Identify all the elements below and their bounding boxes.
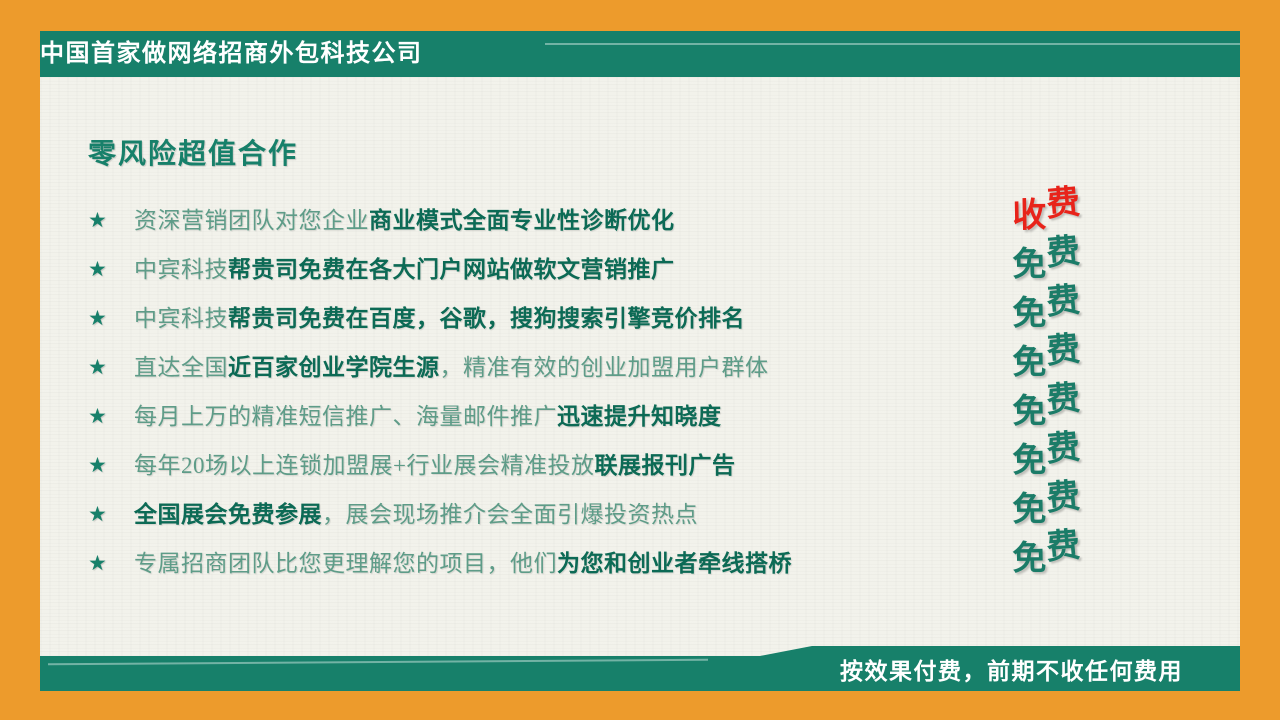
benefit-text-emphasis: 迅速提升知晓度 — [557, 404, 722, 429]
price-badge-char-1: 免 — [1012, 236, 1047, 286]
star-icon: ★ — [88, 504, 134, 525]
price-badge-char-2: 费 — [1044, 174, 1082, 226]
benefit-row: ★资深营销团队对您企业商业模式全面专业性诊断优化收费 — [88, 196, 1088, 245]
price-badge-char-2: 费 — [1044, 419, 1082, 471]
price-badge: 免费 — [985, 523, 1107, 576]
benefit-row: ★中宾科技帮贵司免费在百度，谷歌，搜狗搜索引擎竞价排名免费 — [88, 294, 1088, 343]
benefit-text-emphasis: 全国展会免费参展 — [134, 502, 322, 527]
benefit-text-plain-trailing: ，展会现场推介会全面引爆投资热点 — [322, 502, 698, 527]
benefit-text-emphasis: 帮贵司免费在百度，谷歌，搜狗搜索引擎竞价排名 — [228, 306, 745, 331]
benefit-text-emphasis: 联展报刊广告 — [594, 453, 735, 478]
benefits-list: ★资深营销团队对您企业商业模式全面专业性诊断优化收费★中宾科技帮贵司免费在各大门… — [88, 196, 1088, 588]
star-icon: ★ — [88, 357, 134, 378]
price-badge-char-2: 费 — [1044, 321, 1082, 373]
benefit-row: ★每年20场以上连锁加盟展+行业展会精准投放联展报刊广告免费 — [88, 441, 1088, 490]
star-icon: ★ — [88, 308, 134, 329]
price-badge-char-1: 免 — [1012, 530, 1047, 580]
benefit-text: 资深营销团队对您企业商业模式全面专业性诊断优化 — [134, 207, 1088, 235]
benefit-text-emphasis: 为您和创业者牵线搭桥 — [557, 551, 792, 576]
price-badge-char-2: 费 — [1044, 272, 1082, 324]
benefit-text: 中宾科技帮贵司免费在各大门户网站做软文营销推广 — [134, 256, 1088, 284]
benefit-text: 直达全国近百家创业学院生源，精准有效的创业加盟用户群体 — [134, 354, 1088, 382]
price-badge-char-1: 免 — [1012, 383, 1047, 433]
price-badge-char-1: 免 — [1012, 432, 1047, 482]
star-icon: ★ — [88, 259, 134, 280]
header-title-text: 中国首家做网络招商外包科技公司 — [40, 31, 423, 77]
benefit-row: ★中宾科技帮贵司免费在各大门户网站做软文营销推广免费 — [88, 245, 1088, 294]
benefit-text: 全国展会免费参展，展会现场推介会全面引爆投资热点 — [134, 501, 1088, 529]
price-badge-char-2: 费 — [1044, 468, 1082, 520]
benefit-text-plain-leading: 每年20场以上连锁加盟展+行业展会精准投放 — [134, 453, 594, 478]
page-title: 零风险超值合作 — [88, 132, 298, 172]
price-badge-char-1: 免 — [1012, 285, 1047, 335]
benefit-text: 专属招商团队比您更理解您的项目，他们为您和创业者牵线搭桥 — [134, 550, 1088, 578]
footer-tagline: 按效果付费，前期不收任何费用 — [840, 646, 1240, 691]
price-badge-char-2: 费 — [1044, 517, 1082, 569]
price-badge-char-1: 收 — [1012, 187, 1047, 237]
star-icon: ★ — [88, 553, 134, 574]
slide-root: 中国首家做网络招商外包科技公司 零风险超值合作 ★资深营销团队对您企业商业模式全… — [0, 0, 1280, 720]
price-badge-char-1: 免 — [1012, 481, 1047, 531]
star-icon: ★ — [88, 210, 134, 231]
benefit-text-plain-leading: 每月上万的精准短信推广、海量邮件推广 — [134, 404, 557, 429]
benefit-row: ★全国展会免费参展，展会现场推介会全面引爆投资热点免费 — [88, 490, 1088, 539]
benefit-text: 中宾科技帮贵司免费在百度，谷歌，搜狗搜索引擎竞价排名 — [134, 305, 1088, 333]
header-hairline-divider — [545, 43, 1240, 45]
benefit-text: 每年20场以上连锁加盟展+行业展会精准投放联展报刊广告 — [134, 452, 1088, 480]
benefit-row: ★直达全国近百家创业学院生源，精准有效的创业加盟用户群体免费 — [88, 343, 1088, 392]
benefit-row: ★专属招商团队比您更理解您的项目，他们为您和创业者牵线搭桥免费 — [88, 539, 1088, 588]
benefit-text-plain-trailing: ，精准有效的创业加盟用户群体 — [440, 355, 769, 380]
price-badge-char-2: 费 — [1044, 370, 1082, 422]
star-icon: ★ — [88, 406, 134, 427]
header-title: 中国首家做网络招商外包科技公司 — [40, 31, 470, 77]
star-icon: ★ — [88, 455, 134, 476]
price-badge-char-2: 费 — [1044, 223, 1082, 275]
benefit-text-plain-leading: 资深营销团队对您企业 — [134, 208, 369, 233]
benefit-text-plain-leading: 专属招商团队比您更理解您的项目，他们 — [134, 551, 557, 576]
benefit-text-plain-leading: 中宾科技 — [134, 257, 228, 282]
benefit-text-plain-leading: 直达全国 — [134, 355, 228, 380]
benefit-text: 每月上万的精准短信推广、海量邮件推广迅速提升知晓度 — [134, 403, 1088, 431]
benefit-text-emphasis: 商业模式全面专业性诊断优化 — [369, 208, 675, 233]
benefit-text-emphasis: 近百家创业学院生源 — [228, 355, 440, 380]
benefit-row: ★每月上万的精准短信推广、海量邮件推广迅速提升知晓度免费 — [88, 392, 1088, 441]
price-badge-char-1: 免 — [1012, 334, 1047, 384]
benefit-text-plain-leading: 中宾科技 — [134, 306, 228, 331]
benefit-text-emphasis: 帮贵司免费在各大门户网站做软文营销推广 — [228, 257, 675, 282]
